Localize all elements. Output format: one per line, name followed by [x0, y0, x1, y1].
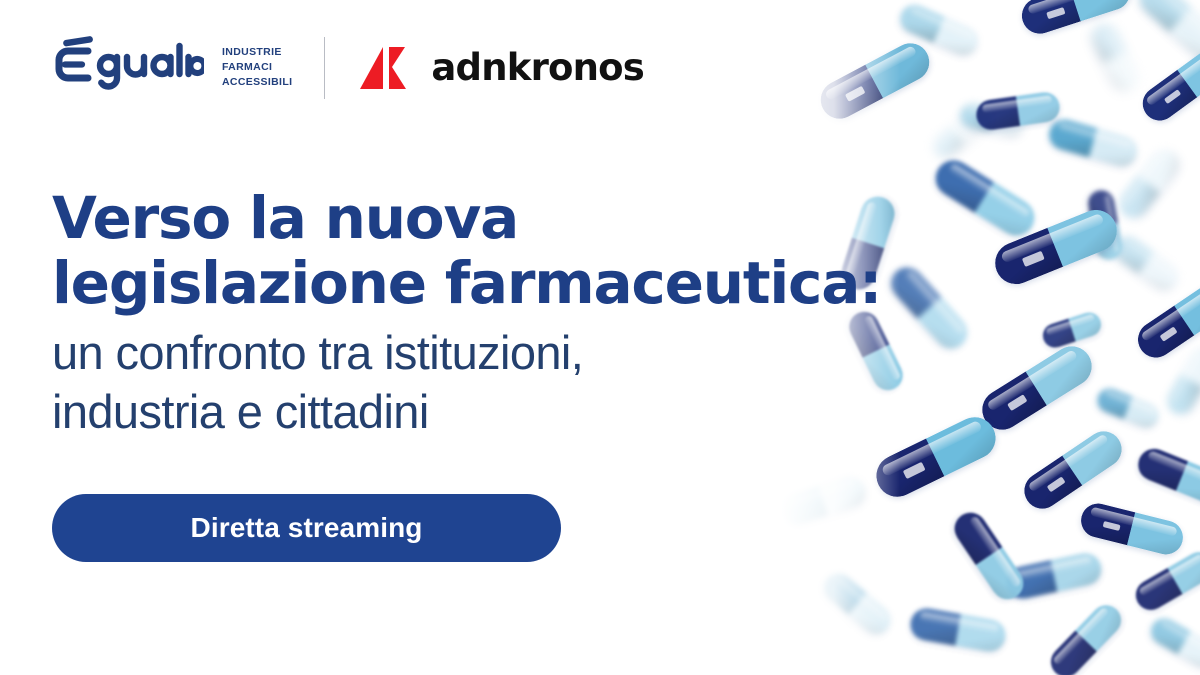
title-line-1: Verso la nuova — [52, 186, 881, 251]
capsule — [1136, 39, 1200, 128]
capsule — [1146, 614, 1200, 673]
capsule — [1077, 500, 1186, 558]
capsule — [818, 568, 896, 640]
capsule — [974, 90, 1061, 131]
capsule — [1130, 547, 1200, 616]
capsule — [884, 261, 973, 355]
page-subtitle: un confronto tra istituzioni, industria … — [52, 324, 881, 442]
adnkronos-wordmark-light: kronos — [507, 46, 644, 89]
promo-banner: INDUSTRIE FARMACI ACCESSIBILI adnkronos … — [0, 0, 1200, 675]
diretta-streaming-button-label: Diretta streaming — [191, 512, 423, 544]
capsule — [1088, 20, 1142, 94]
capsule-body — [1016, 90, 1062, 126]
adnkronos-logo[interactable]: adnkronos — [359, 45, 644, 91]
capsule — [1046, 116, 1141, 170]
egualia-tagline: INDUSTRIE FARMACI ACCESSIBILI — [222, 45, 292, 90]
capsule — [929, 154, 1041, 243]
subtitle-line-2: industria e cittadini — [52, 383, 881, 442]
adnkronos-mark-icon — [359, 45, 417, 91]
capsule — [869, 410, 1002, 504]
egualia-logotype-icon — [52, 36, 204, 92]
capsule — [1045, 599, 1128, 675]
capsule — [1133, 444, 1200, 508]
capsule — [948, 506, 1029, 605]
logo-divider — [324, 37, 325, 99]
title-line-2: legislazione farmaceutica: — [52, 251, 881, 316]
logo-bar: INDUSTRIE FARMACI ACCESSIBILI adnkronos — [52, 36, 644, 99]
capsule-body — [1070, 0, 1135, 21]
subtitle-line-1: un confronto tra istituzioni, — [52, 324, 881, 383]
capsule — [780, 473, 869, 528]
egualia-wordmark — [52, 36, 204, 99]
adnkronos-wordmark-bold: adn — [431, 46, 506, 89]
egualia-tagline-line-3: ACCESSIBILI — [222, 75, 292, 90]
egualia-logo[interactable]: INDUSTRIE FARMACI ACCESSIBILI — [52, 36, 292, 99]
egualia-tagline-line-2: FARMACI — [222, 60, 292, 75]
adnkronos-wordmark: adnkronos — [431, 49, 644, 86]
capsule — [1134, 0, 1200, 64]
capsule — [1094, 385, 1162, 431]
diretta-streaming-button[interactable]: Diretta streaming — [52, 494, 561, 562]
capsule — [1163, 343, 1200, 418]
page-title: Verso la nuova legislazione farmaceutica… — [52, 186, 881, 316]
capsule — [814, 37, 936, 126]
capsule — [1017, 424, 1128, 515]
capsule — [908, 606, 1008, 654]
headline-block: Verso la nuova legislazione farmaceutica… — [52, 186, 881, 441]
capsule — [1040, 309, 1104, 350]
capsule — [975, 339, 1100, 438]
egualia-tagline-line-1: INDUSTRIE — [222, 45, 292, 60]
